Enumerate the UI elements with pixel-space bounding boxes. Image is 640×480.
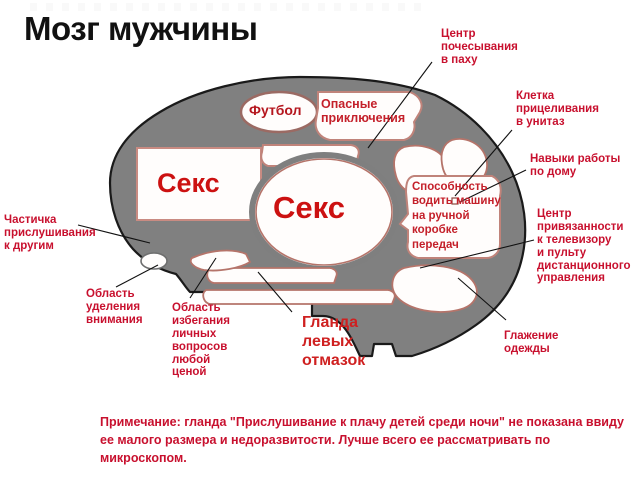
region-label-sex-box: Секс <box>157 168 220 198</box>
region-label-sex-oval: Секс <box>273 191 345 226</box>
region-label-football: Футбол <box>249 103 302 119</box>
region-label-manual-gear: Способность водить машину на ручной коро… <box>412 180 501 252</box>
callout-avoid-personal: Область избегания личных вопросов любой … <box>172 302 230 379</box>
callout-housework: Навыки работы по дому <box>530 153 620 179</box>
callout-scratch-groin: Центр почесывания в паху <box>441 28 518 67</box>
region-lower-band-2 <box>203 290 395 304</box>
callout-toilet-aim: Клетка прицеливания в унитаз <box>516 90 599 129</box>
leader-attention <box>116 265 158 287</box>
region-label-danger: Опасные приключения <box>321 97 405 125</box>
poster-canvas: Мозг мужчины <box>0 0 640 480</box>
callout-ironing: Глажение одежды <box>504 330 558 356</box>
callout-excuses-gland: Гланда левых отмазок <box>302 313 365 371</box>
footnote: Примечание: гланда "Прислушивание к плач… <box>100 414 630 467</box>
callout-attention: Область уделения внимания <box>86 288 143 327</box>
callout-listening: Частичка прислушивания к другим <box>4 214 96 253</box>
callout-tv-remote: Центр привязанности к телевизору и пульт… <box>537 208 630 285</box>
